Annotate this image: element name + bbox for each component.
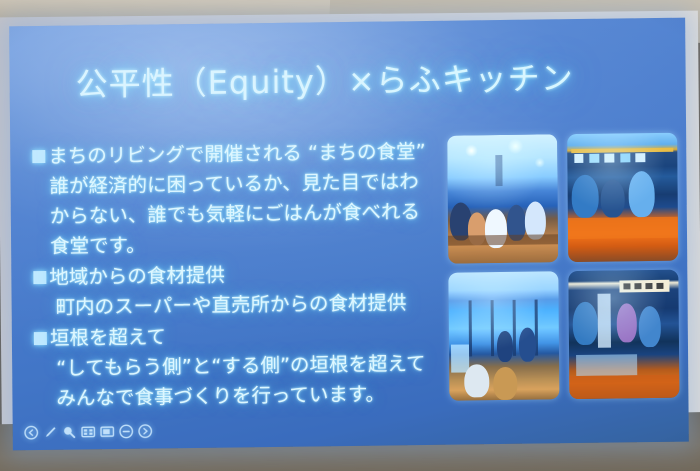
bullet-square-icon [33,271,46,284]
bullet-line: “してもらう側”と“する側”の垣根を超えて [30,349,460,385]
photographed-room-frame: 公平性（Equity）×らふキッチン まちのリビングで開催される “まちの食堂”… [0,0,700,471]
bullet-line: 町内のスーパーや直売所からの食材提供 [30,288,460,324]
bullet-line-text: “してもらう側”と“する側”の垣根を超えて [56,349,426,384]
bullet-block-3: 垣根を超えて “してもらう側”と“する側”の垣根を超えて みんなで食事づくりを行… [30,319,461,415]
bullet-heading-text: 地域からの食材提供 [49,261,225,293]
photo-counter [568,270,679,399]
zoom-slide-icon[interactable] [100,424,115,439]
bullet-line-text: みんなで食事づくりを行っています。 [56,380,385,414]
photo-cafe [447,134,558,263]
photo-grid [447,133,681,413]
all-slides-icon[interactable] [81,424,96,439]
bullet-block-1: まちのリビングで開催される “まちの食堂” 誰が経済的に困っているか、見た目では… [28,137,459,263]
bullet-line: からない、誰でも気軽にごはんが食べれる [29,197,459,233]
bullet-heading-text: 垣根を超えて [50,322,166,354]
bullet-block-2: 地域からの食材提供 町内のスーパーや直売所からの食材提供 [29,258,459,324]
presenter-toolbar[interactable] [21,422,156,443]
bullet-line: 食堂です。 [29,227,459,263]
bullet-square-icon [34,332,47,345]
slide-body: まちのリビングで開催される “まちの食堂” 誰が経済的に困っているか、見た目では… [28,137,460,416]
previous-slide-icon[interactable] [24,425,39,440]
laser-pointer-icon[interactable] [62,425,77,440]
bullet-line-text: 食堂です。 [50,231,146,262]
bullet-line: みんなで食事づくりを行っています。 [30,379,460,415]
bullet-square-icon [32,150,45,163]
photo-hall [448,271,559,400]
next-slide-icon[interactable] [138,424,153,439]
bullet-line-text: 誰が経済的に困っているか、見た目ではわ [49,167,418,202]
projected-slide: 公平性（Equity）×らふキッチン まちのリビングで開催される “まちの食堂”… [9,18,689,451]
more-options-icon[interactable] [119,424,134,439]
bullet-heading-text: まちのリビングで開催される “まちの食堂” [48,137,426,172]
slide-title: 公平性（Equity）×らふキッチン [75,53,573,106]
bullet-line-text: 町内のスーパーや直売所からの食材提供 [56,288,407,323]
bullet-line-text: からない、誰でも気軽にごはんが食べれる [50,197,420,232]
photo-kitchen [567,133,678,262]
pen-icon[interactable] [43,425,58,440]
